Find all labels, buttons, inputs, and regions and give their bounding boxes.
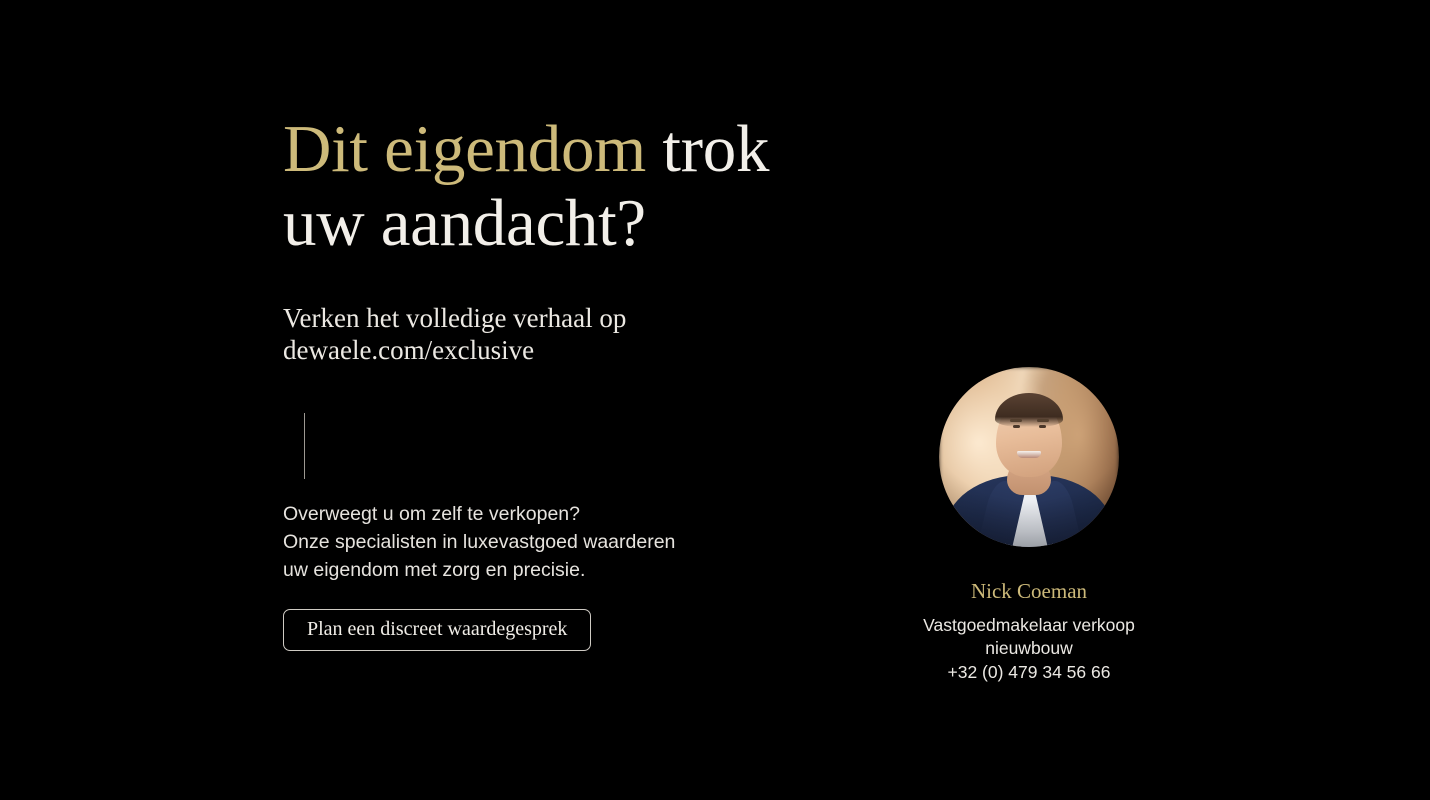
page-title: Dit eigendom trok uw aandacht? xyxy=(283,112,923,260)
hero-content: Dit eigendom trok uw aandacht? Verken he… xyxy=(283,112,923,651)
vertical-divider xyxy=(304,413,305,479)
agent-card: Nick Coeman Vastgoedmakelaar verkoop nie… xyxy=(900,367,1158,684)
plan-valuation-button[interactable]: Plan een discreet waardegesprek xyxy=(283,609,591,651)
hero-subheadline: Verken het volledige verhaal op dewaele.… xyxy=(283,302,923,366)
hero-body-text: Overweegt u om zelf te verkopen? Onze sp… xyxy=(283,500,923,584)
avatar xyxy=(939,367,1119,547)
agent-name: Nick Coeman xyxy=(900,579,1158,604)
agent-role: Vastgoedmakelaar verkoop nieuwbouw xyxy=(900,614,1158,660)
avatar-vignette xyxy=(939,367,1119,547)
page-root: Dit eigendom trok uw aandacht? Verken he… xyxy=(0,0,1430,800)
agent-phone[interactable]: +32 (0) 479 34 56 66 xyxy=(900,661,1158,684)
headline-accent-text: Dit eigendom xyxy=(283,112,646,186)
